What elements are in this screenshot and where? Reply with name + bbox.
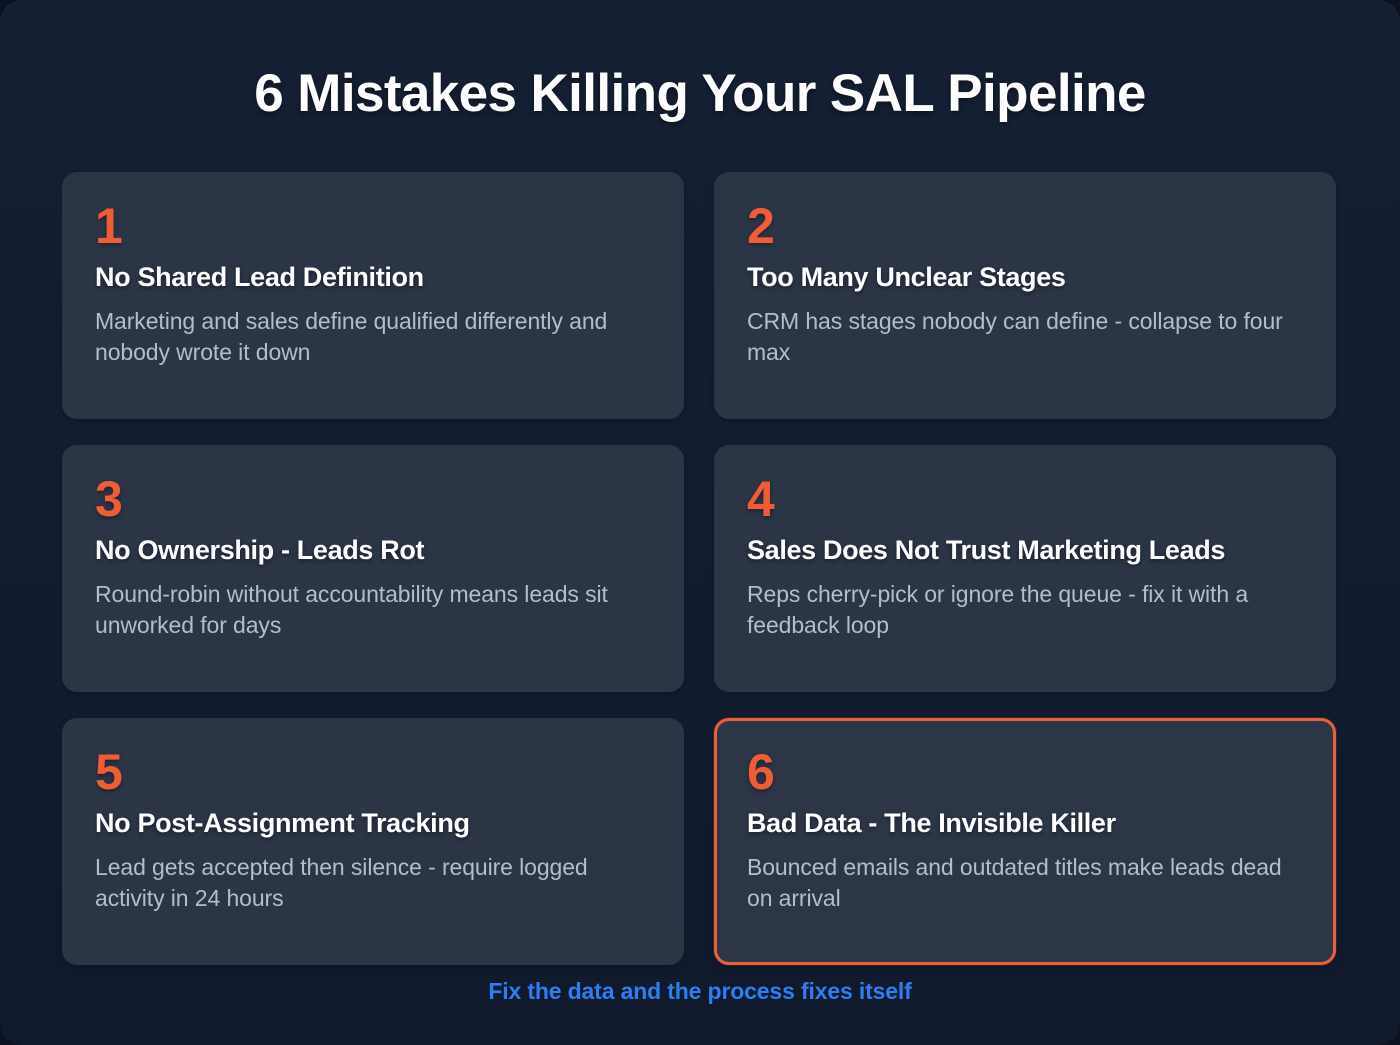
card-title: No Ownership - Leads Rot xyxy=(95,535,651,566)
card-number: 1 xyxy=(95,203,651,249)
mistake-card-grid: 1 No Shared Lead Definition Marketing an… xyxy=(62,172,1340,965)
mistake-card-1: 1 No Shared Lead Definition Marketing an… xyxy=(62,172,684,419)
mistake-card-6: 6 Bad Data - The Invisible Killer Bounce… xyxy=(714,718,1336,965)
page-title: 6 Mistakes Killing Your SAL Pipeline xyxy=(0,63,1400,124)
card-body: Reps cherry-pick or ignore the queue - f… xyxy=(747,579,1303,640)
card-number: 5 xyxy=(95,749,651,795)
card-title: Too Many Unclear Stages xyxy=(747,262,1303,293)
card-body: Lead gets accepted then silence - requir… xyxy=(95,852,651,913)
card-title: Bad Data - The Invisible Killer xyxy=(747,808,1303,839)
mistake-card-3: 3 No Ownership - Leads Rot Round-robin w… xyxy=(62,445,684,692)
card-title: No Shared Lead Definition xyxy=(95,262,651,293)
card-title: No Post-Assignment Tracking xyxy=(95,808,651,839)
mistake-card-2: 2 Too Many Unclear Stages CRM has stages… xyxy=(714,172,1336,419)
card-number: 6 xyxy=(747,749,1303,795)
mistake-card-4: 4 Sales Does Not Trust Marketing Leads R… xyxy=(714,445,1336,692)
infographic-poster: 6 Mistakes Killing Your SAL Pipeline 1 N… xyxy=(0,0,1400,1045)
card-body: Marketing and sales define qualified dif… xyxy=(95,306,651,367)
footer-note: Fix the data and the process fixes itsel… xyxy=(0,978,1400,1005)
card-title: Sales Does Not Trust Marketing Leads xyxy=(747,535,1303,566)
card-body: Bounced emails and outdated titles make … xyxy=(747,852,1303,913)
card-number: 2 xyxy=(747,203,1303,249)
card-number: 3 xyxy=(95,476,651,522)
card-number: 4 xyxy=(747,476,1303,522)
mistake-card-5: 5 No Post-Assignment Tracking Lead gets … xyxy=(62,718,684,965)
card-body: Round-robin without accountability means… xyxy=(95,579,651,640)
card-body: CRM has stages nobody can define - colla… xyxy=(747,306,1303,367)
